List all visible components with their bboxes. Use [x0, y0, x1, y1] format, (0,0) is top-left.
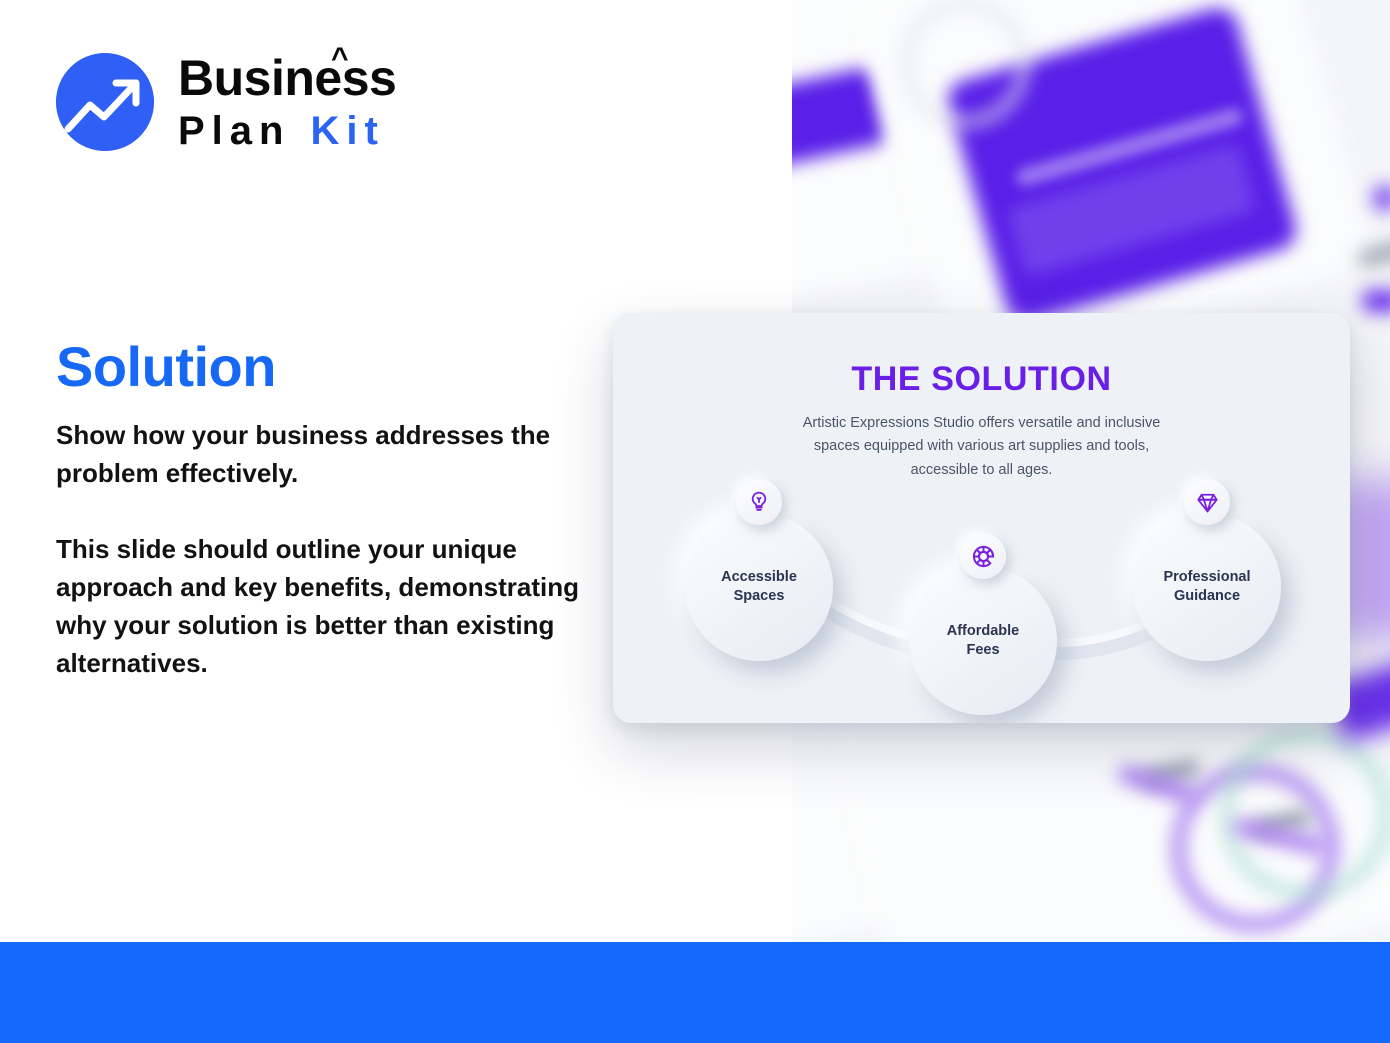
solution-node-affordable-fees[interactable]: Affordable Fees: [909, 567, 1057, 715]
brand-name-line1: Business ^: [178, 53, 396, 103]
slide-root: Business ^ Plan Kit Solution Show how yo…: [0, 0, 1390, 1043]
brand-name-plan: Plan: [178, 111, 290, 151]
lightbulb-icon: [736, 479, 782, 525]
solution-node-accessible-spaces[interactable]: Accessible Spaces: [685, 513, 833, 661]
lifebuoy-icon: [960, 533, 1006, 579]
brand-wordmark: Business ^ Plan Kit: [178, 53, 396, 151]
solution-nodes-diagram: Accessible Spaces Affordable Fees: [613, 313, 1350, 723]
solution-node-professional-guidance[interactable]: Professional Guidance: [1133, 513, 1281, 661]
brand-logo: Business ^ Plan Kit: [56, 53, 396, 151]
brand-name-kit: Kit: [310, 111, 384, 151]
bg-purple-chip-right-low: [1362, 290, 1390, 312]
node-label: Affordable Fees: [947, 622, 1020, 661]
growth-arrow-circle-icon: [56, 53, 154, 151]
body-paragraph-1: Show how your business addresses the pro…: [56, 417, 586, 493]
brand-name-line2: Plan Kit: [178, 111, 396, 151]
diamond-icon: [1184, 479, 1230, 525]
page-title: Solution: [56, 334, 276, 399]
brand-circumflex-accent: ^: [331, 44, 348, 74]
footer-accent-bar: [0, 942, 1390, 1043]
brand-name-business: Business: [178, 50, 396, 106]
bg-dot-purple-right: [1372, 185, 1390, 211]
node-label: Accessible Spaces: [721, 568, 797, 607]
solution-preview-card: THE SOLUTION Artistic Expressions Studio…: [613, 313, 1350, 723]
body-paragraph-2: This slide should outline your unique ap…: [56, 531, 586, 683]
body-copy: Show how your business addresses the pro…: [56, 417, 586, 683]
node-label: Professional Guidance: [1163, 568, 1250, 607]
